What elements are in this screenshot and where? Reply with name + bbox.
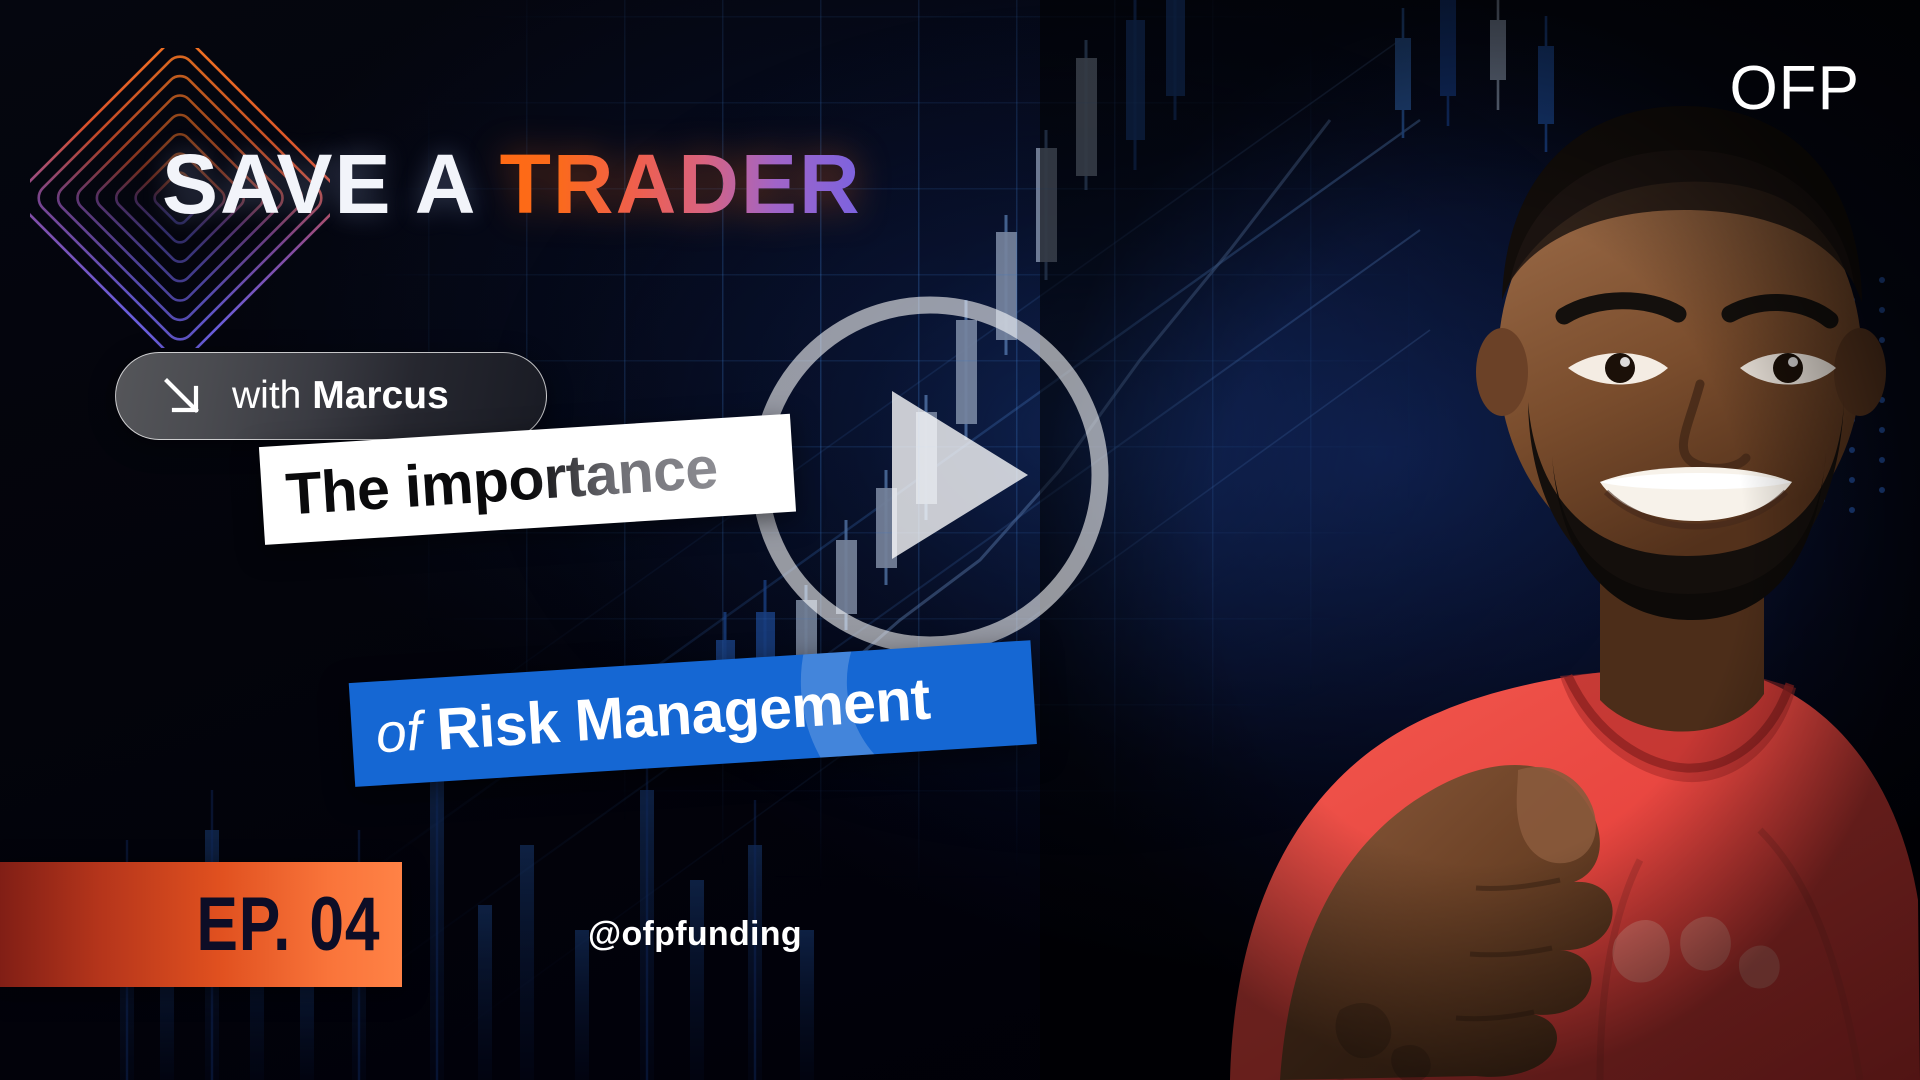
arrow-down-right-icon bbox=[160, 374, 204, 418]
episode-title-of: of bbox=[374, 699, 424, 766]
play-button[interactable] bbox=[740, 285, 1120, 665]
ofp-logo: OFP bbox=[1730, 58, 1860, 120]
title-white-part: SAVE A bbox=[162, 137, 500, 231]
episode-badge-label: EP. 04 bbox=[196, 881, 380, 968]
host-name: Marcus bbox=[312, 374, 449, 417]
video-thumbnail: OFP SAVE A TRADER with Marcus The import… bbox=[0, 0, 1920, 1080]
play-icon bbox=[892, 391, 1028, 559]
host-prefix: with bbox=[232, 374, 312, 417]
episode-title-line1-text: The importance bbox=[284, 433, 720, 528]
title-gradient-part: TRADER bbox=[500, 137, 862, 231]
host-pill-label: with Marcus bbox=[232, 374, 449, 418]
page-title: SAVE A TRADER bbox=[162, 140, 862, 228]
host-pill[interactable]: with Marcus bbox=[115, 352, 547, 440]
host-photo bbox=[1040, 0, 1920, 1080]
episode-badge: EP. 04 bbox=[0, 862, 402, 987]
social-handle: @ofpfunding bbox=[588, 915, 802, 954]
